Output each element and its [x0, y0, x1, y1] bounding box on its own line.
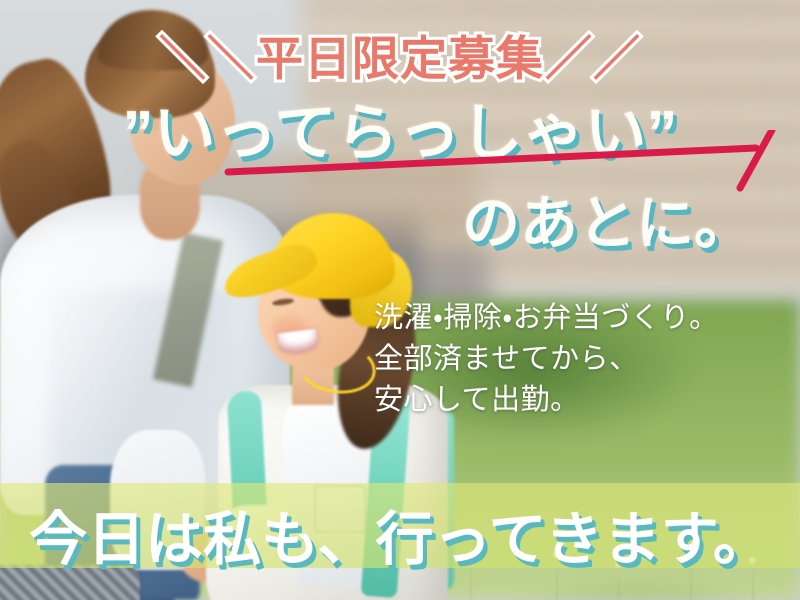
body-copy-line-3: 安心して出勤。 — [374, 380, 794, 421]
body-copy-line-2: 全部済ませてから、 — [374, 339, 794, 380]
bottom-band-text: 今日は私も、行ってきます。 — [0, 492, 800, 576]
headline-text: 平日限定募集 — [256, 32, 544, 85]
slash-right-icon: ／／ — [544, 20, 642, 89]
promo-banner: ＼＼平日限定募集／／ ”いってらっしゃい” のあとに。 洗濯・掃除・お弁当づくり… — [0, 0, 800, 600]
body-copy-line-1: 洗濯・掃除・お弁当づくり。 — [374, 298, 794, 339]
body-copy: 洗濯・掃除・お弁当づくり。 全部済ませてから、 安心して出勤。 — [374, 298, 794, 422]
headline-recruit: ＼＼平日限定募集／／ — [0, 20, 800, 89]
red-underline-icon — [200, 130, 800, 240]
slash-left-icon: ＼＼ — [158, 20, 256, 89]
